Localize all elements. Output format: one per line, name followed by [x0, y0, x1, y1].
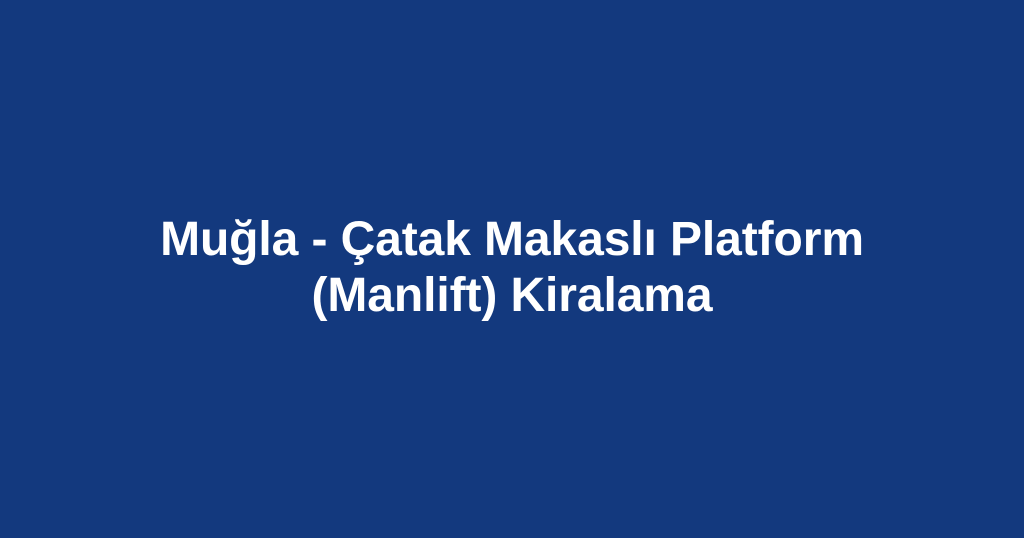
page-title: Muğla - Çatak Makaslı Platform (Manlift)…: [132, 212, 892, 324]
page-title-line-2: (Manlift) Kiralama: [132, 268, 892, 324]
og-share-card: Muğla - Çatak Makaslı Platform (Manlift)…: [0, 0, 1024, 538]
page-title-line-1: Muğla - Çatak Makaslı Platform: [132, 212, 892, 268]
